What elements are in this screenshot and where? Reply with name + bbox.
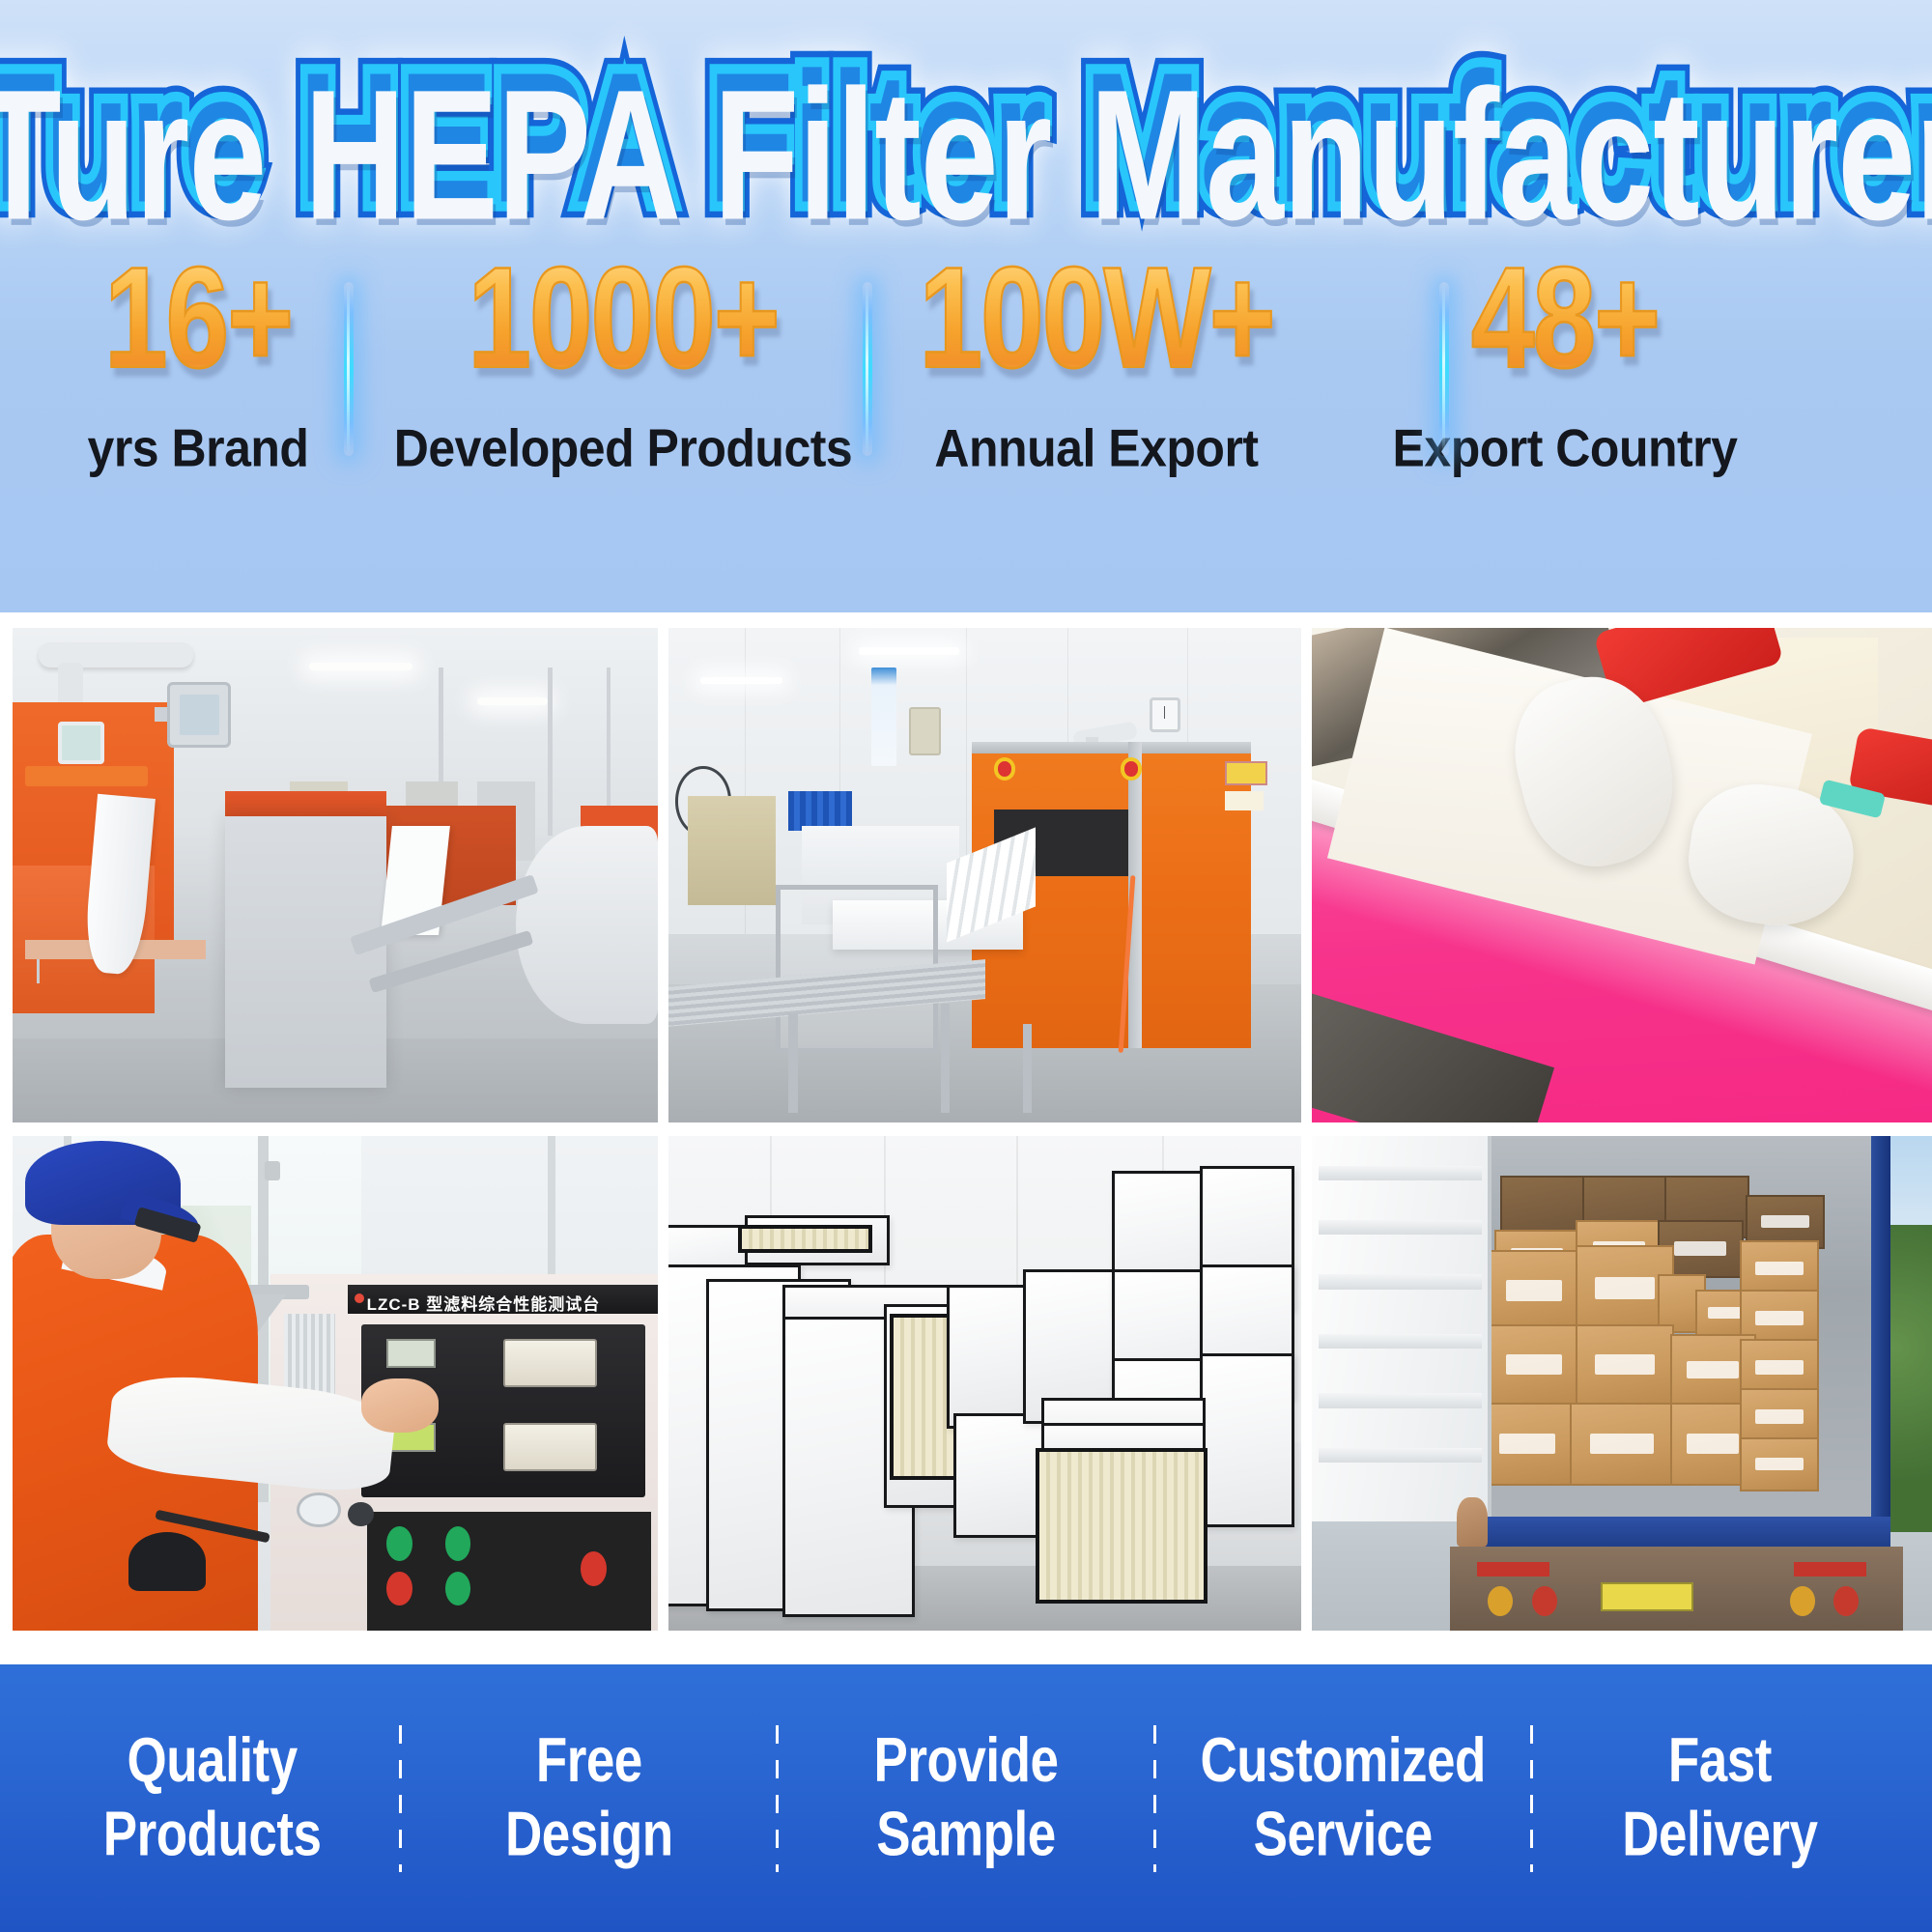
feature-line1-1: Free (402, 1724, 776, 1798)
stat-label-1: Developed Products (394, 417, 852, 479)
stat-value-2: 100W+ (919, 246, 1273, 390)
test-bench-label: LZC-B 型滤料综合性能测试台 (367, 1291, 601, 1315)
feature-line2-1: Design (402, 1799, 776, 1872)
photo-gallery: LZC-B 型滤料综合性能测试台 (13, 628, 1919, 1652)
photo-container-loading (1312, 1136, 1932, 1631)
promo-banner: Ture HEPA Filter Manufacturer Ture HEPA … (0, 0, 1932, 1932)
feature-line1-0: Quality (25, 1724, 399, 1798)
stat-item-1: 1000+ Developed Products (377, 246, 869, 476)
feature-bar: Quality Products Free Design Provide Sam… (0, 1664, 1932, 1932)
feature-line2-3: Service (1156, 1799, 1530, 1872)
stat-value-1: 1000+ (468, 246, 778, 390)
header-section: Ture HEPA Filter Manufacturer Ture HEPA … (0, 0, 1932, 612)
stat-divider-2 (863, 282, 872, 456)
page-title: Ture HEPA Filter Manufacturer Ture HEPA … (0, 44, 1932, 230)
feature-line1-4: Fast (1533, 1724, 1907, 1798)
feature-item-0: Quality Products (25, 1724, 399, 1872)
stat-item-2: 100W+ Annual Export (869, 246, 1323, 476)
feature-item-2: Provide Sample (779, 1724, 1152, 1872)
feature-item-1: Free Design (402, 1724, 776, 1872)
stat-item-3: 48+ Export Country (1323, 246, 1806, 476)
title-face: Ture HEPA Filter Manufacturer (0, 62, 1932, 247)
feature-line2-2: Sample (779, 1799, 1152, 1872)
stat-divider-1 (344, 282, 354, 456)
feature-line2-0: Products (25, 1799, 399, 1872)
stat-item-0: 16+ yrs Brand (19, 246, 377, 476)
stat-value-0: 16+ (104, 246, 292, 390)
feature-line1-3: Customized (1156, 1724, 1530, 1798)
photo-filter-media-line (13, 628, 658, 1122)
stat-label-2: Annual Export (934, 417, 1258, 479)
feature-line2-4: Delivery (1533, 1799, 1907, 1872)
stats-row: 16+ yrs Brand 1000+ Developed Products 1… (0, 246, 1932, 565)
photo-filter-assembly (1312, 628, 1932, 1122)
feature-item-3: Customized Service (1156, 1724, 1530, 1872)
feature-line1-2: Provide (779, 1724, 1152, 1798)
photo-finished-hepa-units (668, 1136, 1301, 1631)
photo-pleating-machine (668, 628, 1301, 1122)
feature-item-4: Fast Delivery (1533, 1724, 1907, 1872)
stat-value-3: 48+ (1471, 246, 1659, 390)
photo-performance-testing: LZC-B 型滤料综合性能测试台 (13, 1136, 658, 1631)
stat-divider-3 (1439, 282, 1449, 456)
page-title-wrap: Ture HEPA Filter Manufacturer Ture HEPA … (0, 60, 1932, 214)
stat-label-0: yrs Brand (88, 417, 309, 479)
